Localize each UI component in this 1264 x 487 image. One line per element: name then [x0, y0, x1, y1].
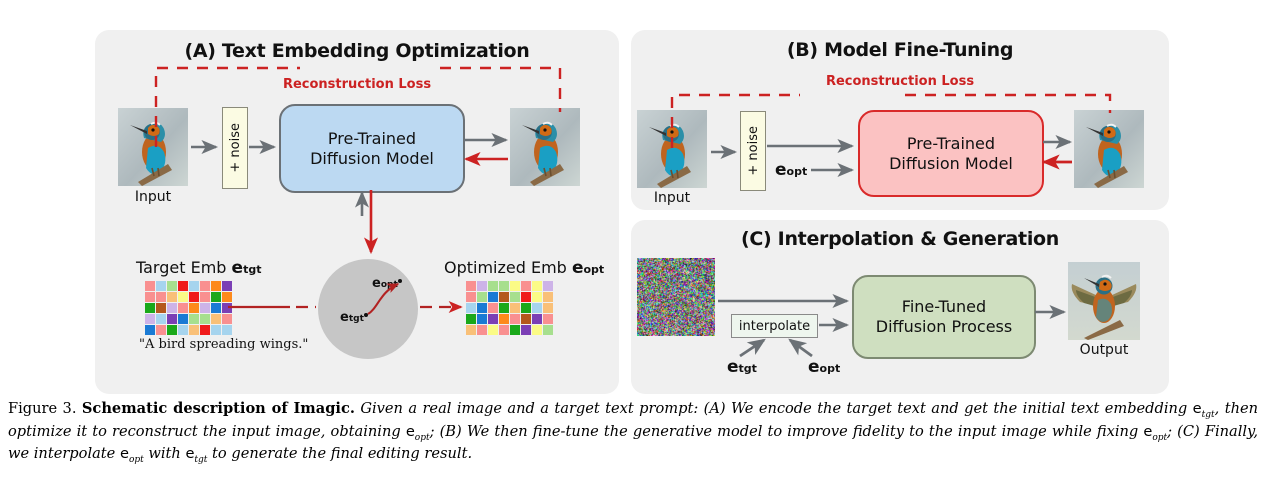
panel-a-reconstruction-loss-label: Reconstruction Loss	[95, 77, 619, 92]
emb-cell-3-6	[211, 314, 221, 324]
emb-cell-1-1	[156, 292, 166, 302]
emb-cell-0-4	[510, 281, 520, 291]
emb-cell-3-6	[532, 314, 542, 324]
panel-b-reconstruction-loss-label: Reconstruction Loss	[631, 74, 1169, 89]
emb-cell-3-2	[167, 314, 177, 324]
emb-cell-2-7	[543, 303, 553, 313]
emb-cell-3-5	[521, 314, 531, 324]
panel-c-model-line1: Fine-Tuned	[876, 297, 1012, 317]
emb-cell-2-6	[211, 303, 221, 313]
emb-cell-3-3	[178, 314, 188, 324]
optimized-embedding-grid	[466, 281, 553, 335]
emb-cell-4-2	[488, 325, 498, 335]
caption-e-opt-2: eopt	[1143, 423, 1167, 440]
emb-cell-2-0	[466, 303, 476, 313]
emb-cell-4-6	[532, 325, 542, 335]
emb-cell-3-3	[499, 314, 509, 324]
panel-a-target-emb-title-group: Target Emb etgt	[136, 258, 261, 278]
emb-cell-4-2	[167, 325, 177, 335]
emb-cell-3-7	[543, 314, 553, 324]
panel-a-target-emb-symbol: e	[232, 258, 244, 278]
emb-cell-1-5	[200, 292, 210, 302]
figure-caption: Figure 3. Schematic description of Imagi…	[8, 399, 1258, 467]
target-embedding-grid	[145, 281, 232, 335]
emb-cell-0-0	[466, 281, 476, 291]
caption-part-5: with	[144, 445, 186, 462]
panel-b-title: (B) Model Fine-Tuning	[631, 39, 1169, 61]
panel-a-target-emb-sub: tgt	[243, 263, 261, 276]
circle-e-opt-label: eopt	[372, 272, 398, 291]
emb-cell-1-4	[510, 292, 520, 302]
emb-cell-2-3	[178, 303, 188, 313]
emb-cell-4-7	[222, 325, 232, 335]
emb-cell-4-4	[510, 325, 520, 335]
latent-space-circle	[318, 259, 418, 359]
panel-a-model-line1: Pre-Trained	[310, 129, 434, 149]
emb-cell-4-5	[521, 325, 531, 335]
emb-cell-1-3	[178, 292, 188, 302]
caption-e-opt-3: eopt	[120, 445, 144, 462]
emb-cell-1-3	[499, 292, 509, 302]
emb-cell-1-0	[466, 292, 476, 302]
panel-a-diffusion-model-box: Pre-Trained Diffusion Model	[279, 104, 465, 193]
circle-e-tgt-label: etgt	[340, 306, 364, 325]
emb-cell-4-3	[499, 325, 509, 335]
panel-a-noise-box: + noise	[222, 107, 248, 189]
emb-cell-0-6	[211, 281, 221, 291]
emb-cell-2-5	[521, 303, 531, 313]
panel-b-model-line2: Diffusion Model	[889, 154, 1013, 174]
interpolate-box: interpolate	[731, 314, 818, 338]
panel-a-prompt-text: "A bird spreading wings."	[139, 337, 308, 352]
emb-cell-3-5	[200, 314, 210, 324]
emb-cell-2-6	[532, 303, 542, 313]
emb-cell-1-1	[477, 292, 487, 302]
panel-c-e-opt-label: eopt	[808, 357, 840, 377]
emb-cell-2-1	[156, 303, 166, 313]
panel-b-reconstructed-image	[1074, 110, 1144, 188]
emb-cell-1-6	[211, 292, 221, 302]
panel-a-optimized-emb-title-group: Optimized Emb eopt	[444, 258, 604, 278]
emb-cell-3-2	[488, 314, 498, 324]
emb-cell-1-2	[488, 292, 498, 302]
emb-cell-1-6	[532, 292, 542, 302]
emb-cell-2-4	[510, 303, 520, 313]
panel-a-noise-label: + noise	[228, 123, 243, 173]
panel-c-output-label: Output	[1068, 342, 1140, 358]
caption-part-6: to generate the final editing result.	[207, 445, 472, 462]
interpolate-label: interpolate	[739, 319, 810, 334]
panel-a-input-label: Input	[118, 189, 188, 205]
emb-cell-0-6	[532, 281, 542, 291]
emb-cell-0-7	[222, 281, 232, 291]
emb-cell-2-7	[222, 303, 232, 313]
panel-b-model-line1: Pre-Trained	[889, 134, 1013, 154]
caption-e-tgt-2: etgt	[185, 445, 207, 462]
emb-cell-0-2	[167, 281, 177, 291]
emb-cell-4-4	[189, 325, 199, 335]
emb-cell-2-2	[167, 303, 177, 313]
caption-part-3: ; (B) We then fine-tune the generative m…	[430, 423, 1144, 440]
emb-cell-1-7	[222, 292, 232, 302]
emb-cell-3-0	[145, 314, 155, 324]
emb-cell-2-4	[189, 303, 199, 313]
emb-cell-4-6	[211, 325, 221, 335]
emb-cell-4-7	[543, 325, 553, 335]
emb-cell-2-2	[488, 303, 498, 313]
emb-cell-0-0	[145, 281, 155, 291]
emb-cell-4-1	[156, 325, 166, 335]
caption-e-opt-1: eopt	[406, 423, 430, 440]
figure-number: Figure 3.	[8, 400, 76, 417]
panel-a-input-image	[118, 108, 188, 186]
emb-cell-0-7	[543, 281, 553, 291]
emb-cell-1-2	[167, 292, 177, 302]
emb-cell-0-3	[178, 281, 188, 291]
figure-title: Schematic description of Imagic.	[82, 400, 355, 417]
panel-b-diffusion-model-box: Pre-Trained Diffusion Model	[858, 110, 1044, 197]
panel-c-title: (C) Interpolation & Generation	[631, 228, 1169, 250]
caption-part-1: Given a real image and a target text pro…	[360, 400, 1192, 417]
emb-cell-3-4	[189, 314, 199, 324]
emb-cell-2-1	[477, 303, 487, 313]
panel-a-optimized-emb-sub: opt	[583, 263, 604, 276]
panel-a-reconstructed-image	[510, 108, 580, 186]
panel-c-e-tgt-label: etgt	[727, 357, 757, 377]
emb-cell-4-3	[178, 325, 188, 335]
emb-cell-3-0	[466, 314, 476, 324]
emb-cell-3-1	[156, 314, 166, 324]
emb-cell-1-5	[521, 292, 531, 302]
emb-cell-0-1	[156, 281, 166, 291]
emb-cell-2-5	[200, 303, 210, 313]
panel-c-output-image	[1068, 262, 1140, 340]
panel-a-target-emb-title: Target Emb	[136, 258, 226, 277]
panel-a-model-line2: Diffusion Model	[310, 149, 434, 169]
emb-cell-2-3	[499, 303, 509, 313]
panel-b-input-label: Input	[637, 190, 707, 206]
emb-cell-3-7	[222, 314, 232, 324]
emb-cell-4-1	[477, 325, 487, 335]
emb-cell-0-4	[189, 281, 199, 291]
emb-cell-0-2	[488, 281, 498, 291]
emb-cell-1-7	[543, 292, 553, 302]
emb-cell-3-4	[510, 314, 520, 324]
panel-a-optimized-emb-title: Optimized Emb	[444, 258, 567, 277]
emb-cell-1-4	[189, 292, 199, 302]
caption-e-tgt-1: etgt	[1193, 400, 1215, 417]
emb-cell-0-1	[477, 281, 487, 291]
emb-cell-0-5	[200, 281, 210, 291]
panel-a-title: (A) Text Embedding Optimization	[95, 40, 619, 62]
e-opt-point	[398, 279, 402, 283]
panel-a-optimized-emb-symbol: e	[572, 258, 584, 278]
emb-cell-1-0	[145, 292, 155, 302]
panel-c-diffusion-process-box: Fine-Tuned Diffusion Process	[852, 275, 1036, 359]
panel-c-noise-image	[637, 258, 715, 336]
emb-cell-0-5	[521, 281, 531, 291]
panel-b-noise-box: + noise	[740, 111, 766, 191]
emb-cell-2-0	[145, 303, 155, 313]
emb-cell-0-3	[499, 281, 509, 291]
panel-b-e-opt-label: eopt	[775, 160, 807, 180]
e-tgt-point	[364, 313, 368, 317]
panel-c-model-line2: Diffusion Process	[876, 317, 1012, 337]
emb-cell-4-5	[200, 325, 210, 335]
emb-cell-4-0	[145, 325, 155, 335]
emb-cell-3-1	[477, 314, 487, 324]
panel-b-noise-label: + noise	[746, 126, 761, 176]
emb-cell-4-0	[466, 325, 476, 335]
panel-b-input-image	[637, 110, 707, 188]
